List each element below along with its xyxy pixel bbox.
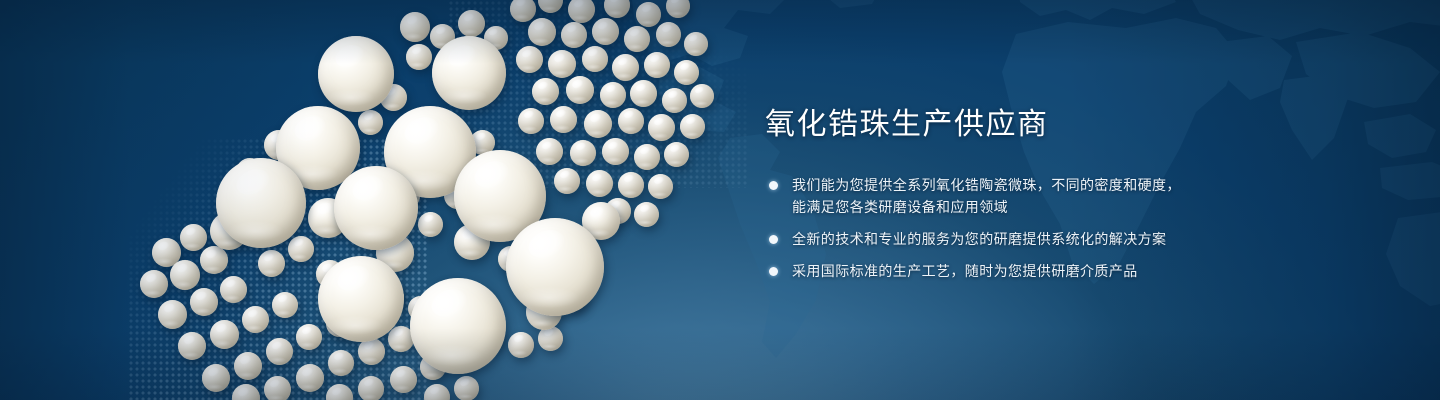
bullet-dot-icon <box>769 235 778 244</box>
list-item: 我们能为您提供全系列氧化锆陶瓷微珠，不同的密度和硬度， 能满足您各类研磨设备和应… <box>765 174 1325 218</box>
page-title: 氧化锆珠生产供应商 <box>765 106 1325 144</box>
list-item: 采用国际标准的生产工艺，随时为您提供研磨介质产品 <box>765 260 1325 282</box>
zirconia-beads-hero-banner: 氧化锆珠生产供应商 我们能为您提供全系列氧化锆陶瓷微珠，不同的密度和硬度， 能满… <box>0 0 1440 400</box>
bullet-line: 能满足您各类研磨设备和应用领域 <box>792 196 1325 218</box>
list-item: 全新的技术和专业的服务为您的研磨提供系统化的解决方案 <box>765 228 1325 250</box>
banner-copy-block: 氧化锆珠生产供应商 我们能为您提供全系列氧化锆陶瓷微珠，不同的密度和硬度， 能满… <box>765 106 1325 282</box>
feature-bullet-list: 我们能为您提供全系列氧化锆陶瓷微珠，不同的密度和硬度， 能满足您各类研磨设备和应… <box>765 174 1325 282</box>
bullet-dot-icon <box>769 267 778 276</box>
bullet-line: 全新的技术和专业的服务为您的研磨提供系统化的解决方案 <box>792 228 1325 250</box>
bullet-dot-icon <box>769 181 778 190</box>
bullet-line: 我们能为您提供全系列氧化锆陶瓷微珠，不同的密度和硬度， <box>792 174 1325 196</box>
bullet-line: 采用国际标准的生产工艺，随时为您提供研磨介质产品 <box>792 260 1325 282</box>
